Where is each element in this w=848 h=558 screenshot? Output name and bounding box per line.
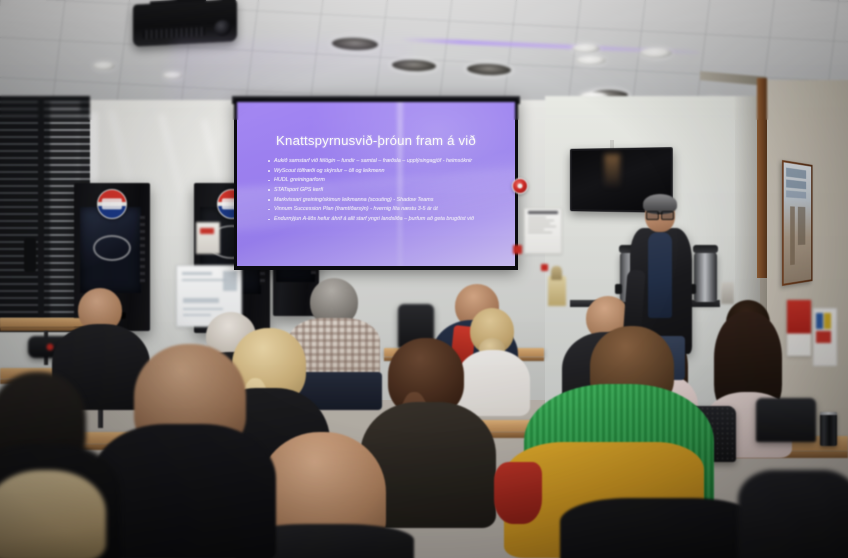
projection-screen: Knattspyrnusvið-þróun fram á við Aukið s… <box>234 98 518 270</box>
board-note <box>223 271 237 291</box>
vending-brand-oval <box>93 235 131 261</box>
notice-line <box>528 229 544 230</box>
notice-header <box>528 211 558 214</box>
vending-buttons[interactable] <box>140 216 145 284</box>
board-line <box>182 272 212 275</box>
foreground-attendee <box>738 470 848 558</box>
wall-red-sticker <box>513 245 522 254</box>
poster-strip <box>816 331 831 343</box>
recessed-light <box>93 62 115 70</box>
glasses-bridge <box>657 213 663 214</box>
poster-artwork <box>784 162 811 283</box>
counter-item <box>548 276 566 306</box>
vending-logo-band <box>102 198 122 209</box>
poster-block <box>786 168 806 179</box>
poster-block <box>798 207 805 245</box>
notice-line <box>528 226 556 227</box>
can-lid <box>820 412 837 415</box>
foreground-chair-back <box>560 498 760 558</box>
drink-can[interactable] <box>820 412 837 446</box>
counter-box <box>196 222 220 254</box>
recessed-light <box>572 44 600 53</box>
fire-alarm-bell-icon <box>512 178 528 194</box>
projector-lens <box>214 20 231 37</box>
glasses-icon <box>646 211 674 218</box>
door-frame <box>757 78 767 278</box>
slide-content: Knattspyrnusvið-þróun fram á við Aukið s… <box>237 102 515 266</box>
presenter-shirt <box>648 232 672 318</box>
board-line <box>183 314 211 316</box>
vending-logo-icon <box>97 189 127 219</box>
hair <box>0 470 106 558</box>
poster-strip <box>824 313 831 329</box>
wall-red-sticker <box>541 264 548 271</box>
slide-title: Knattspyrnusvið-þróun fram á við <box>237 133 515 148</box>
small-wall-poster <box>813 308 837 366</box>
urn-tap[interactable] <box>615 284 622 294</box>
counter-box-label <box>200 228 214 234</box>
notice-line <box>528 217 546 218</box>
poster-block <box>786 190 806 198</box>
chair[interactable] <box>756 398 816 442</box>
poster-block <box>790 206 795 265</box>
notice-line <box>528 223 550 224</box>
recessed-light <box>640 48 672 58</box>
wall-notice-sign <box>524 208 562 254</box>
board-note <box>183 298 219 303</box>
recessed-light <box>576 56 606 65</box>
red-bag <box>494 462 542 524</box>
poster-strip <box>816 313 823 329</box>
counter-item <box>721 282 734 304</box>
counter-item-top <box>551 266 562 280</box>
window-mullion <box>38 96 44 332</box>
board-line <box>182 279 226 281</box>
torso <box>456 350 530 416</box>
coffee-urn <box>694 252 717 302</box>
tv-reflection <box>604 154 620 188</box>
presentation-photo-scene: Knattspyrnusvið-þróun fram á við Aukið s… <box>0 0 848 558</box>
poster-block <box>786 179 806 189</box>
projector-vents <box>143 27 205 39</box>
notice-line <box>528 232 552 233</box>
red-wall-poster <box>787 300 811 356</box>
board-line <box>183 308 223 310</box>
speaker-logo-icon <box>47 344 54 351</box>
blind-handle[interactable] <box>24 238 36 272</box>
slide-bullet: Aukið samstarf við félögin – fundir – sa… <box>267 158 493 165</box>
urn-lid <box>693 245 719 253</box>
framed-poster <box>782 160 813 286</box>
notice-line <box>528 220 554 221</box>
